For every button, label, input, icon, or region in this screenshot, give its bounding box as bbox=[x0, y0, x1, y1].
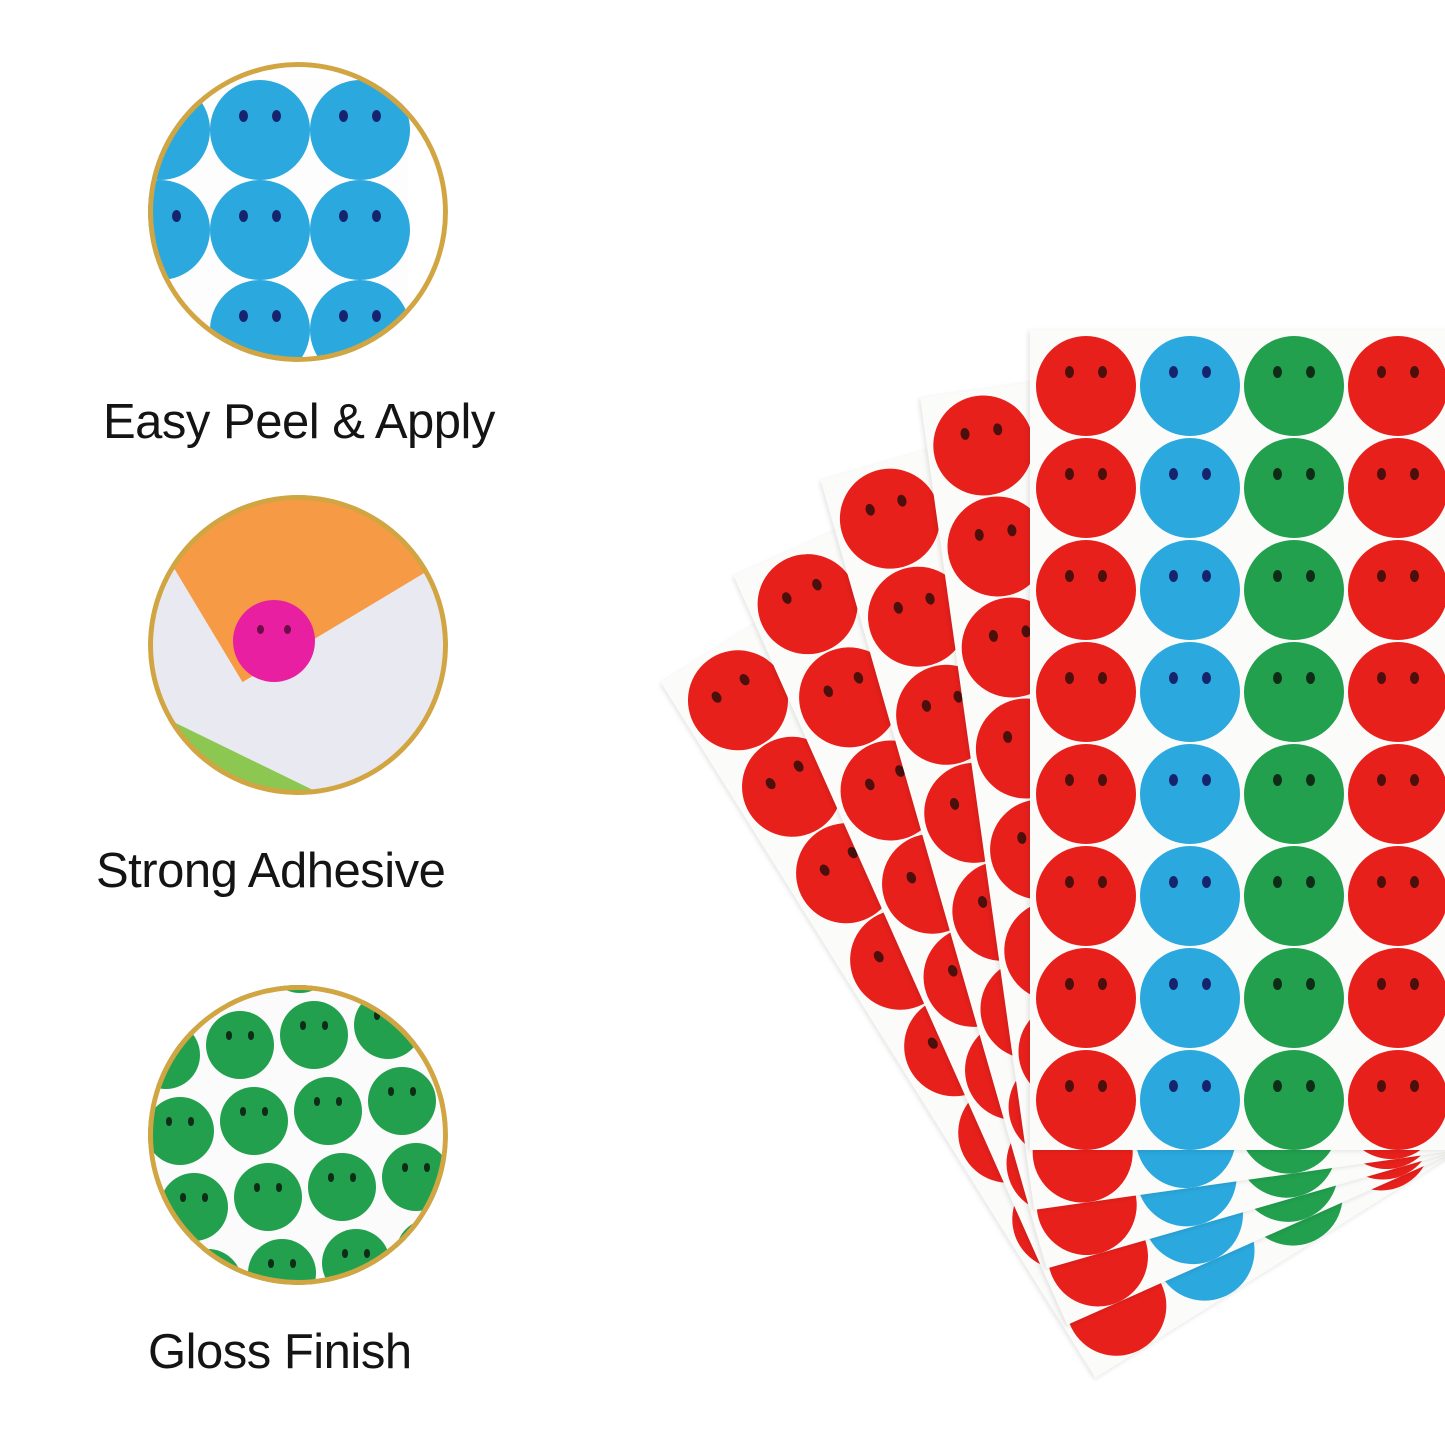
smiley-sticker bbox=[1244, 642, 1344, 742]
feature-label-easy-peel: Easy Peel & Apply bbox=[103, 394, 495, 450]
smile-icon bbox=[1160, 376, 1220, 414]
smile-icon bbox=[234, 1114, 275, 1140]
sticker-grid bbox=[1030, 330, 1445, 1150]
smiley-sticker bbox=[1036, 336, 1136, 436]
smile-icon bbox=[368, 1018, 409, 1044]
smiley-green bbox=[322, 1229, 390, 1285]
smile-icon bbox=[230, 320, 290, 358]
smile-icon bbox=[330, 320, 390, 358]
smiley-sticker bbox=[1348, 642, 1445, 742]
smiley-sticker bbox=[1348, 744, 1445, 844]
smile-icon bbox=[1264, 682, 1324, 720]
smiley-sticker bbox=[1140, 1050, 1240, 1150]
smiley-green bbox=[354, 991, 422, 1059]
product-sticker-sheet-fan bbox=[500, 150, 1445, 1350]
smile-icon bbox=[1368, 784, 1428, 822]
smile-icon bbox=[1160, 784, 1220, 822]
smiley-green bbox=[160, 1173, 228, 1241]
smile-icon bbox=[1056, 886, 1116, 924]
smile-icon bbox=[1160, 682, 1220, 720]
smile-icon bbox=[262, 1266, 303, 1285]
smiley-sticker bbox=[1036, 540, 1136, 640]
smile-icon bbox=[1368, 478, 1428, 516]
smile-icon bbox=[396, 1170, 437, 1196]
smiley-green bbox=[428, 985, 448, 1049]
smile-icon bbox=[1160, 988, 1220, 1026]
smiley-green bbox=[148, 1259, 168, 1285]
smiley-sticker bbox=[1244, 744, 1344, 844]
smile-icon bbox=[442, 1008, 448, 1034]
smile-icon bbox=[160, 1124, 201, 1150]
smile-icon bbox=[1264, 1090, 1324, 1128]
smile-icon bbox=[1056, 580, 1116, 618]
smile-icon bbox=[336, 1256, 377, 1282]
smile-icon bbox=[1160, 478, 1220, 516]
smile-icon bbox=[1368, 376, 1428, 414]
smiley-sticker bbox=[1140, 642, 1240, 742]
smile-icon bbox=[1160, 1090, 1220, 1128]
smile-icon bbox=[249, 633, 298, 664]
smiley-green bbox=[148, 1021, 200, 1089]
green-sticker-grid bbox=[148, 985, 448, 1285]
smiley-sticker bbox=[1244, 438, 1344, 538]
smiley-green bbox=[280, 1001, 348, 1069]
smiley-sticker bbox=[1140, 846, 1240, 946]
smiley-sticker bbox=[1036, 744, 1136, 844]
smile-icon bbox=[220, 1038, 261, 1064]
smiley-green bbox=[442, 1057, 448, 1125]
smiley-sticker bbox=[1244, 540, 1344, 640]
smiley-green bbox=[148, 1183, 154, 1251]
smile-icon bbox=[248, 1190, 289, 1216]
smiley-green bbox=[192, 985, 260, 1003]
smile-icon bbox=[1368, 988, 1428, 1026]
smile-icon bbox=[188, 1276, 229, 1285]
smile-icon bbox=[174, 1200, 215, 1226]
smiley-sticker bbox=[1244, 948, 1344, 1048]
smile-icon bbox=[952, 431, 1017, 477]
smiley-sticker bbox=[1348, 846, 1445, 946]
smiley-sticker bbox=[1244, 1050, 1344, 1150]
smiley-green bbox=[206, 1011, 274, 1079]
smile-icon bbox=[1056, 988, 1116, 1026]
smile-icon bbox=[1160, 580, 1220, 618]
feature-label-strong-adhesive: Strong Adhesive bbox=[96, 843, 445, 899]
smile-icon bbox=[322, 1180, 363, 1206]
smile-icon bbox=[294, 1028, 335, 1054]
smile-icon bbox=[1056, 784, 1116, 822]
smile-icon bbox=[1056, 1090, 1116, 1128]
smiley-green bbox=[234, 1163, 302, 1231]
smile-icon bbox=[966, 532, 1031, 578]
smiley-green bbox=[368, 1067, 436, 1135]
smile-icon bbox=[148, 985, 172, 998]
smiley-green bbox=[294, 1077, 362, 1145]
smiley-sticker bbox=[1348, 540, 1445, 640]
smile-icon bbox=[707, 676, 778, 740]
smiley-sticker bbox=[1140, 438, 1240, 538]
smile-icon bbox=[206, 985, 247, 988]
smiley-green bbox=[148, 1097, 214, 1165]
sticker-sheet-5 bbox=[1030, 330, 1445, 1150]
smiley-sticker bbox=[1348, 1050, 1445, 1150]
smiley-sticker bbox=[1036, 438, 1136, 538]
smiley-sticker bbox=[1140, 948, 1240, 1048]
smile-icon bbox=[1264, 988, 1324, 1026]
smile-icon bbox=[308, 1104, 349, 1130]
smile-icon bbox=[1160, 886, 1220, 924]
smiley-sticker bbox=[1348, 336, 1445, 436]
feature-label-gloss-finish: Gloss Finish bbox=[148, 1324, 412, 1380]
smiley-sticker bbox=[1140, 744, 1240, 844]
smile-icon bbox=[1264, 784, 1324, 822]
poster-canvas: Easy Peel & Apply Strong Adhesive bbox=[0, 0, 1445, 1445]
smile-icon bbox=[1368, 580, 1428, 618]
badge-gloss-finish-inner bbox=[148, 985, 448, 1285]
smiley-green bbox=[174, 1249, 242, 1285]
smile-icon bbox=[1264, 886, 1324, 924]
smiley-sticker bbox=[1244, 846, 1344, 946]
smiley-green bbox=[396, 1219, 448, 1285]
smiley-sticker bbox=[1348, 438, 1445, 538]
badge-gloss-finish-image bbox=[148, 985, 448, 1285]
smile-icon bbox=[148, 1048, 186, 1074]
smiley-sticker bbox=[1036, 846, 1136, 946]
smiley-green bbox=[148, 985, 186, 1013]
smile-icon bbox=[382, 1094, 423, 1120]
smile-icon bbox=[1056, 376, 1116, 414]
smiley-magenta bbox=[233, 600, 315, 682]
smile-icon bbox=[410, 1246, 448, 1272]
smile-icon bbox=[1056, 682, 1116, 720]
smile-icon bbox=[1264, 376, 1324, 414]
smiley-green bbox=[382, 1143, 448, 1211]
smile-icon bbox=[1368, 682, 1428, 720]
smiley-green bbox=[266, 985, 334, 993]
badge-strong-adhesive-inner bbox=[148, 495, 448, 795]
smile-icon bbox=[1056, 478, 1116, 516]
smiley-sticker bbox=[1140, 336, 1240, 436]
smiley-sticker bbox=[1036, 1050, 1136, 1150]
smiley-sticker bbox=[1036, 642, 1136, 742]
smile-icon bbox=[1368, 886, 1428, 924]
smiley-sticker bbox=[927, 389, 1040, 502]
smile-icon bbox=[1264, 478, 1324, 516]
smiley-green bbox=[248, 1239, 316, 1285]
smile-icon bbox=[1264, 580, 1324, 618]
smiley-sticker bbox=[1244, 336, 1344, 436]
smiley-sticker bbox=[1036, 948, 1136, 1048]
smiley-sticker bbox=[1348, 948, 1445, 1048]
smile-icon bbox=[1368, 1090, 1428, 1128]
smiley-green bbox=[220, 1087, 288, 1155]
smiley-sticker bbox=[1140, 540, 1240, 640]
smiley-green bbox=[308, 1153, 376, 1221]
badge-strong-adhesive-image bbox=[148, 495, 448, 795]
